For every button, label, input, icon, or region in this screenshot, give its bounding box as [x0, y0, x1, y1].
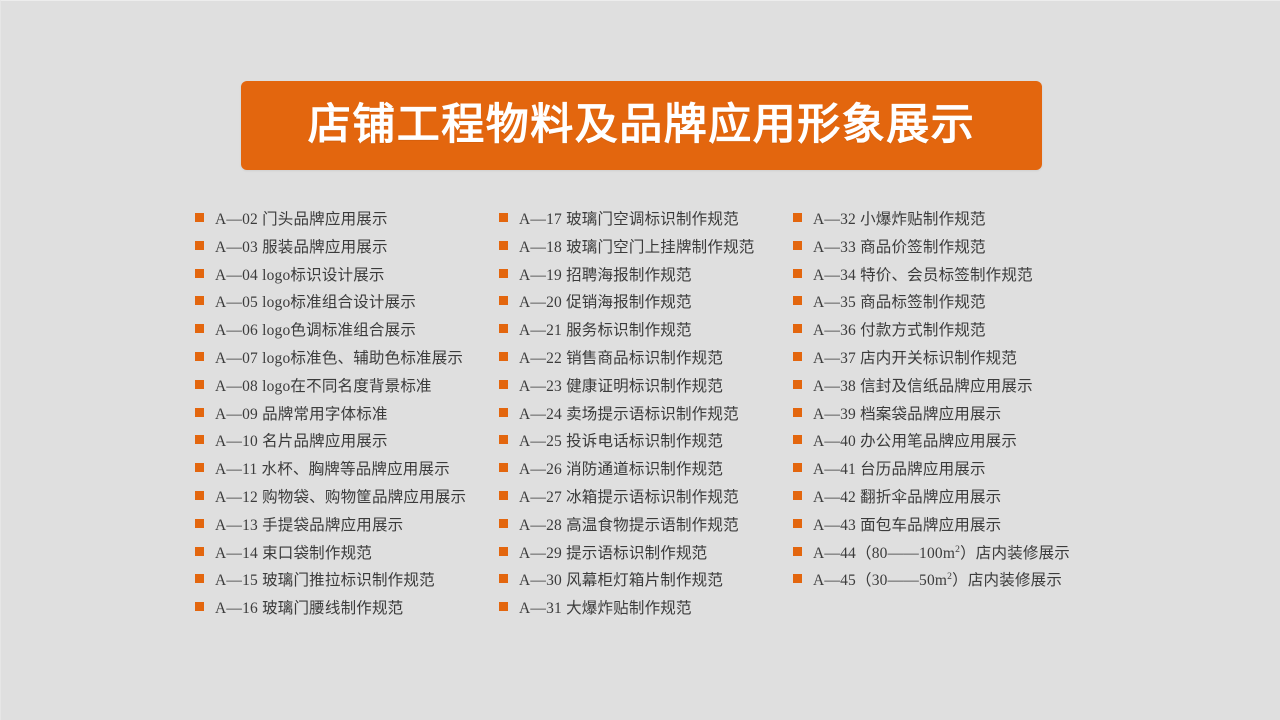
list-item[interactable]: A—18 玻璃门空门上挂牌制作规范 — [499, 240, 799, 268]
square-bullet-icon — [195, 380, 204, 389]
list-item-label: A—19 招聘海报制作规范 — [519, 268, 692, 284]
square-bullet-icon — [793, 296, 802, 305]
list-item-label: A—42 翻折伞品牌应用展示 — [813, 490, 1001, 506]
list-item[interactable]: A—02 门头品牌应用展示 — [195, 212, 495, 240]
list-item[interactable]: A—10 名片品牌应用展示 — [195, 434, 495, 462]
list-item[interactable]: A—04 logo标识设计展示 — [195, 268, 495, 296]
list-item-label: A—04 logo标识设计展示 — [215, 268, 385, 284]
list-item-label: A—34 特价、会员标签制作规范 — [813, 268, 1033, 284]
list-item[interactable]: A—33 商品价签制作规范 — [793, 240, 1103, 268]
square-bullet-icon — [793, 491, 802, 500]
list-item[interactable]: A—06 logo色调标准组合展示 — [195, 323, 495, 351]
list-item[interactable]: A—14 束口袋制作规范 — [195, 546, 495, 574]
list-item[interactable]: A—28 高温食物提示语制作规范 — [499, 518, 799, 546]
list-item[interactable]: A—11 水杯、胸牌等品牌应用展示 — [195, 462, 495, 490]
list-item[interactable]: A—34 特价、会员标签制作规范 — [793, 268, 1103, 296]
list-item-label: A—31 大爆炸贴制作规范 — [519, 601, 692, 617]
square-bullet-icon — [499, 296, 508, 305]
list-item[interactable]: A—27 冰箱提示语标识制作规范 — [499, 490, 799, 518]
list-item[interactable]: A—15 玻璃门推拉标识制作规范 — [195, 573, 495, 601]
list-item[interactable]: A—17 玻璃门空调标识制作规范 — [499, 212, 799, 240]
list-item-label: A—38 信封及信纸品牌应用展示 — [813, 379, 1033, 395]
list-item-label: A—09 品牌常用字体标准 — [215, 407, 388, 423]
list-item-label: A—27 冰箱提示语标识制作规范 — [519, 490, 739, 506]
page-title: 店铺工程物料及品牌应用形象展示 — [308, 104, 976, 147]
list-item-label: A—36 付款方式制作规范 — [813, 323, 986, 339]
list-item[interactable]: A—36 付款方式制作规范 — [793, 323, 1103, 351]
list-item[interactable]: A—20 促销海报制作规范 — [499, 295, 799, 323]
list-item-label: A—08 logo在不同名度背景标准 — [215, 379, 432, 395]
list-item[interactable]: A—38 信封及信纸品牌应用展示 — [793, 379, 1103, 407]
square-bullet-icon — [195, 241, 204, 250]
square-bullet-icon — [195, 547, 204, 556]
square-bullet-icon — [793, 408, 802, 417]
square-bullet-icon — [499, 435, 508, 444]
square-bullet-icon — [793, 519, 802, 528]
list-item[interactable]: A—07 logo标准色、辅助色标准展示 — [195, 351, 495, 379]
list-item-label: A—03 服装品牌应用展示 — [215, 240, 388, 256]
list-item-label: A—14 束口袋制作规范 — [215, 546, 372, 562]
square-bullet-icon — [499, 547, 508, 556]
square-bullet-icon — [195, 519, 204, 528]
list-item[interactable]: A—30 风幕柜灯箱片制作规范 — [499, 573, 799, 601]
list-item-label: A—24 卖场提示语标识制作规范 — [519, 407, 739, 423]
square-bullet-icon — [195, 574, 204, 583]
square-bullet-icon — [195, 324, 204, 333]
list-item[interactable]: A—05 logo标准组合设计展示 — [195, 295, 495, 323]
list-item-label: A—16 玻璃门腰线制作规范 — [215, 601, 403, 617]
item-column-1: A—02 门头品牌应用展示A—03 服装品牌应用展示A—04 logo标识设计展… — [195, 212, 495, 629]
list-item-label: A—30 风幕柜灯箱片制作规范 — [519, 573, 723, 589]
list-item-label: A—05 logo标准组合设计展示 — [215, 295, 416, 311]
list-item[interactable]: A—31 大爆炸贴制作规范 — [499, 601, 799, 629]
list-item-label: A—26 消防通道标识制作规范 — [519, 462, 723, 478]
square-bullet-icon — [499, 463, 508, 472]
square-bullet-icon — [793, 352, 802, 361]
square-bullet-icon — [499, 519, 508, 528]
list-item[interactable]: A—26 消防通道标识制作规范 — [499, 462, 799, 490]
list-item[interactable]: A—24 卖场提示语标识制作规范 — [499, 407, 799, 435]
list-item-label: A—43 面包车品牌应用展示 — [813, 518, 1001, 534]
square-bullet-icon — [499, 408, 508, 417]
square-bullet-icon — [195, 352, 204, 361]
list-item-label: A—45（30——50m2）店内装修展示 — [813, 573, 1062, 589]
list-item-label: A—06 logo色调标准组合展示 — [215, 323, 416, 339]
list-item-label: A—02 门头品牌应用展示 — [215, 212, 388, 228]
list-item-label: A—25 投诉电话标识制作规范 — [519, 434, 723, 450]
list-item-label: A—17 玻璃门空调标识制作规范 — [519, 212, 739, 228]
list-item-label: A—12 购物袋、购物筐品牌应用展示 — [215, 490, 466, 506]
list-item-label: A—22 销售商品标识制作规范 — [519, 351, 723, 367]
list-item-label: A—21 服务标识制作规范 — [519, 323, 692, 339]
square-bullet-icon — [195, 435, 204, 444]
square-bullet-icon — [793, 324, 802, 333]
list-item-label: A—44（80——100m2）店内装修展示 — [813, 546, 1070, 562]
list-item[interactable]: A—23 健康证明标识制作规范 — [499, 379, 799, 407]
list-item[interactable]: A—13 手提袋品牌应用展示 — [195, 518, 495, 546]
square-bullet-icon — [499, 352, 508, 361]
list-item[interactable]: A—09 品牌常用字体标准 — [195, 407, 495, 435]
title-banner: 店铺工程物料及品牌应用形象展示 — [241, 81, 1042, 170]
list-item-label: A—35 商品标签制作规范 — [813, 295, 986, 311]
square-bullet-icon — [195, 463, 204, 472]
list-item-label: A—37 店内开关标识制作规范 — [813, 351, 1017, 367]
list-item-label: A—33 商品价签制作规范 — [813, 240, 986, 256]
square-bullet-icon — [499, 269, 508, 278]
list-item[interactable]: A—44（80——100m2）店内装修展示 — [793, 546, 1103, 574]
list-item[interactable]: A—29 提示语标识制作规范 — [499, 546, 799, 574]
list-item-label: A—23 健康证明标识制作规范 — [519, 379, 723, 395]
list-item[interactable]: A—22 销售商品标识制作规范 — [499, 351, 799, 379]
list-item-label: A—41 台历品牌应用展示 — [813, 462, 986, 478]
list-item-label: A—10 名片品牌应用展示 — [215, 434, 388, 450]
list-item[interactable]: A—40 办公用笔品牌应用展示 — [793, 434, 1103, 462]
list-item-label: A—07 logo标准色、辅助色标准展示 — [215, 351, 463, 367]
list-item[interactable]: A—16 玻璃门腰线制作规范 — [195, 601, 495, 629]
list-item-label: A—32 小爆炸贴制作规范 — [813, 212, 986, 228]
square-bullet-icon — [793, 435, 802, 444]
square-bullet-icon — [195, 602, 204, 611]
square-bullet-icon — [793, 213, 802, 222]
list-item-label: A—39 档案袋品牌应用展示 — [813, 407, 1001, 423]
square-bullet-icon — [793, 380, 802, 389]
list-item-label: A—20 促销海报制作规范 — [519, 295, 692, 311]
list-item-label: A—18 玻璃门空门上挂牌制作规范 — [519, 240, 754, 256]
square-bullet-icon — [195, 408, 204, 417]
square-bullet-icon — [499, 380, 508, 389]
item-column-3: A—32 小爆炸贴制作规范A—33 商品价签制作规范A—34 特价、会员标签制作… — [793, 212, 1103, 601]
list-item[interactable]: A—32 小爆炸贴制作规范 — [793, 212, 1103, 240]
list-item[interactable]: A—21 服务标识制作规范 — [499, 323, 799, 351]
list-item[interactable]: A—45（30——50m2）店内装修展示 — [793, 573, 1103, 601]
list-item[interactable]: A—03 服装品牌应用展示 — [195, 240, 495, 268]
list-item-label: A—15 玻璃门推拉标识制作规范 — [215, 573, 435, 589]
square-bullet-icon — [793, 547, 802, 556]
square-bullet-icon — [793, 463, 802, 472]
list-item[interactable]: A—12 购物袋、购物筐品牌应用展示 — [195, 490, 495, 518]
square-bullet-icon — [793, 241, 802, 250]
list-item[interactable]: A—37 店内开关标识制作规范 — [793, 351, 1103, 379]
square-bullet-icon — [499, 602, 508, 611]
list-item-label: A—29 提示语标识制作规范 — [519, 546, 707, 562]
square-bullet-icon — [793, 574, 802, 583]
slide-canvas: 店铺工程物料及品牌应用形象展示 A—02 门头品牌应用展示A—03 服装品牌应用… — [0, 0, 1280, 720]
square-bullet-icon — [499, 241, 508, 250]
list-item-label: A—28 高温食物提示语制作规范 — [519, 518, 739, 534]
list-item[interactable]: A—42 翻折伞品牌应用展示 — [793, 490, 1103, 518]
list-item[interactable]: A—19 招聘海报制作规范 — [499, 268, 799, 296]
square-bullet-icon — [195, 296, 204, 305]
square-bullet-icon — [499, 574, 508, 583]
square-bullet-icon — [793, 269, 802, 278]
list-item[interactable]: A—08 logo在不同名度背景标准 — [195, 379, 495, 407]
list-item[interactable]: A—35 商品标签制作规范 — [793, 295, 1103, 323]
list-item-label: A—11 水杯、胸牌等品牌应用展示 — [215, 462, 450, 478]
list-item[interactable]: A—41 台历品牌应用展示 — [793, 462, 1103, 490]
square-bullet-icon — [195, 269, 204, 278]
square-bullet-icon — [499, 213, 508, 222]
list-item[interactable]: A—25 投诉电话标识制作规范 — [499, 434, 799, 462]
list-item[interactable]: A—39 档案袋品牌应用展示 — [793, 407, 1103, 435]
square-bullet-icon — [195, 213, 204, 222]
square-bullet-icon — [499, 324, 508, 333]
square-bullet-icon — [195, 491, 204, 500]
list-item-label: A—13 手提袋品牌应用展示 — [215, 518, 403, 534]
item-column-2: A—17 玻璃门空调标识制作规范A—18 玻璃门空门上挂牌制作规范A—19 招聘… — [499, 212, 799, 629]
square-bullet-icon — [499, 491, 508, 500]
list-item-label: A—40 办公用笔品牌应用展示 — [813, 434, 1017, 450]
list-item[interactable]: A—43 面包车品牌应用展示 — [793, 518, 1103, 546]
